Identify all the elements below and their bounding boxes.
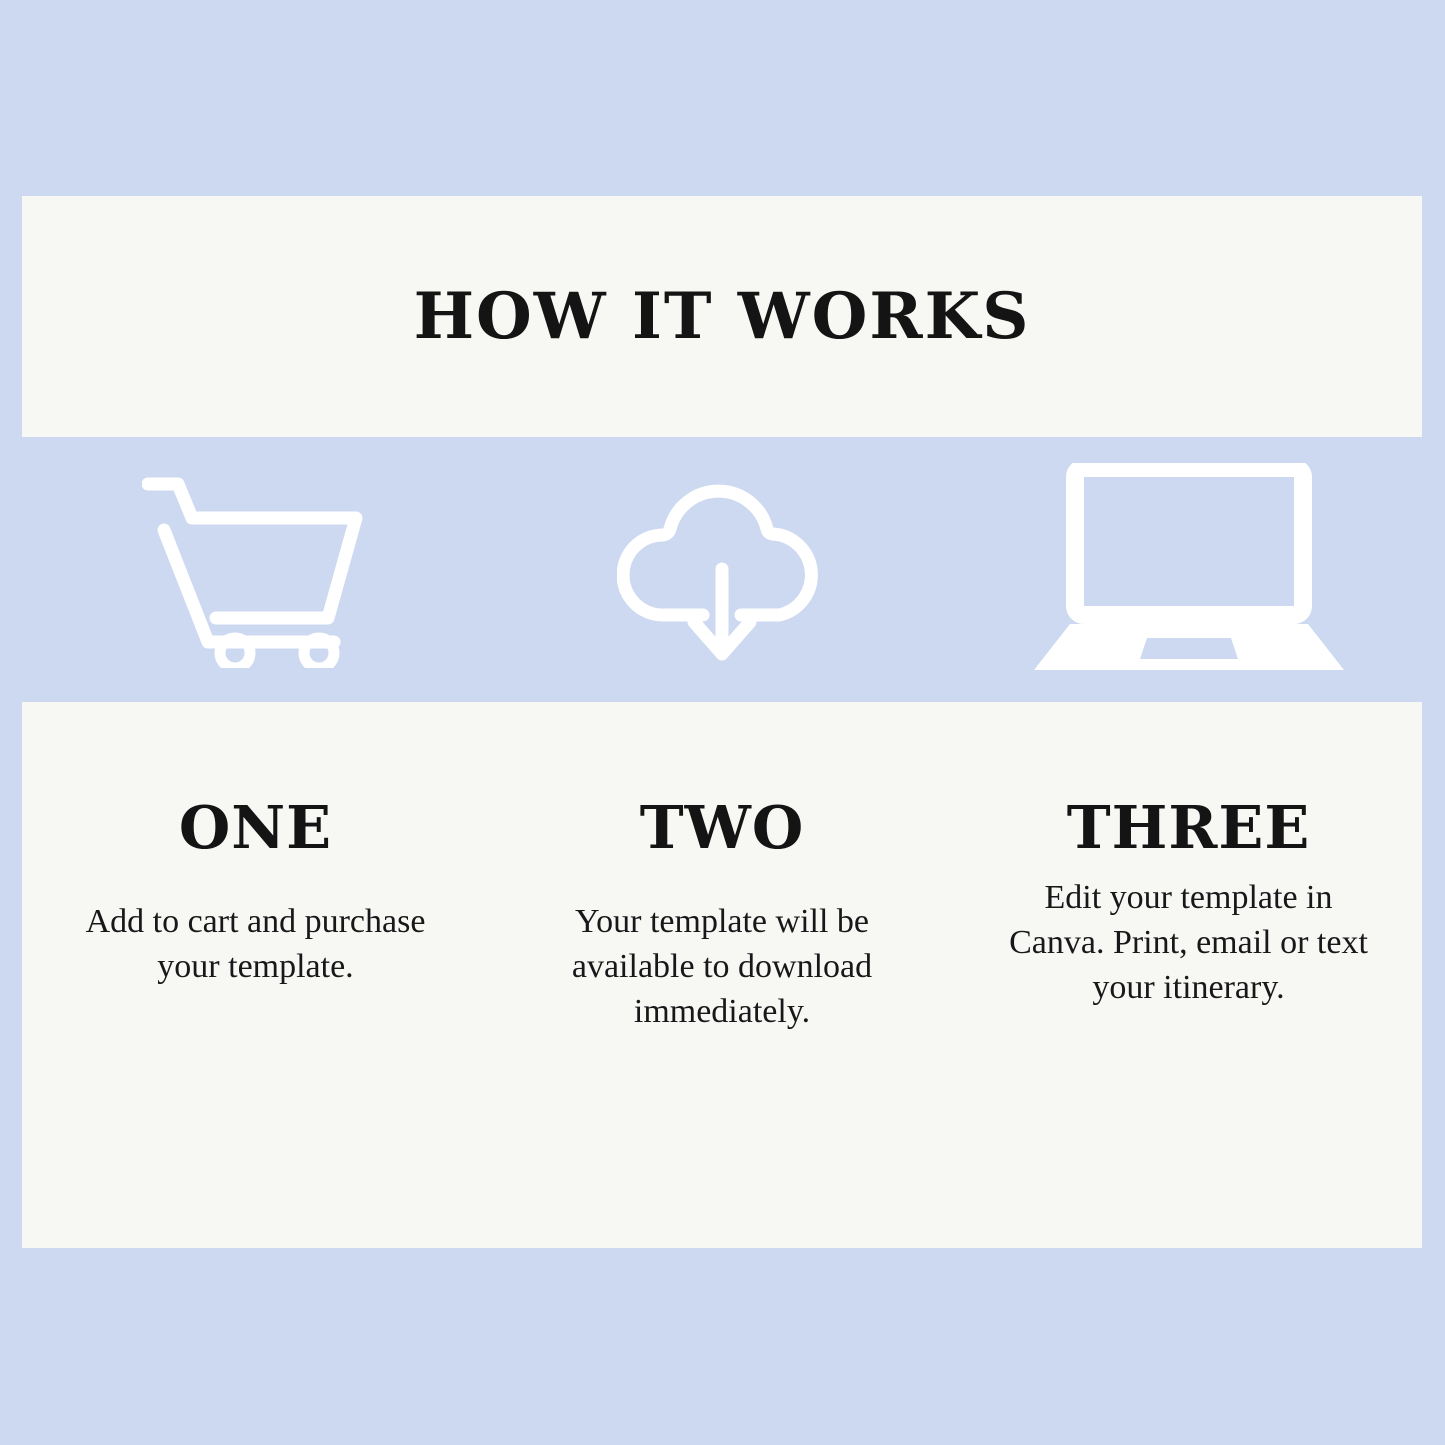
step-one-heading: ONE — [50, 702, 461, 857]
icon-cell-one — [22, 437, 489, 702]
icon-strip — [22, 437, 1422, 702]
header-panel: HOW IT WORKS — [22, 196, 1422, 437]
steps-panel: ONE Add to cart and purchase your templa… — [22, 702, 1422, 1248]
shopping-cart-icon — [142, 472, 370, 668]
how-it-works-poster: HOW IT WORKS — [0, 0, 1445, 1445]
icon-cell-two — [489, 437, 955, 702]
step-three-heading: THREE — [985, 702, 1392, 857]
icon-cell-three — [955, 437, 1422, 702]
step-two: TWO Your template will be available to d… — [489, 702, 955, 1248]
step-one-body: Add to cart and purchase your template. — [50, 899, 461, 989]
step-three: THREE Edit your template in Canva. Print… — [955, 702, 1422, 1248]
step-one: ONE Add to cart and purchase your templa… — [22, 702, 489, 1248]
page-title: HOW IT WORKS — [414, 285, 1031, 349]
step-two-body: Your template will be available to downl… — [519, 899, 925, 1034]
step-two-heading: TWO — [519, 702, 925, 857]
step-three-body: Edit your template in Canva. Print, emai… — [985, 875, 1392, 1010]
cloud-download-icon — [617, 472, 827, 668]
laptop-icon — [1030, 463, 1348, 676]
